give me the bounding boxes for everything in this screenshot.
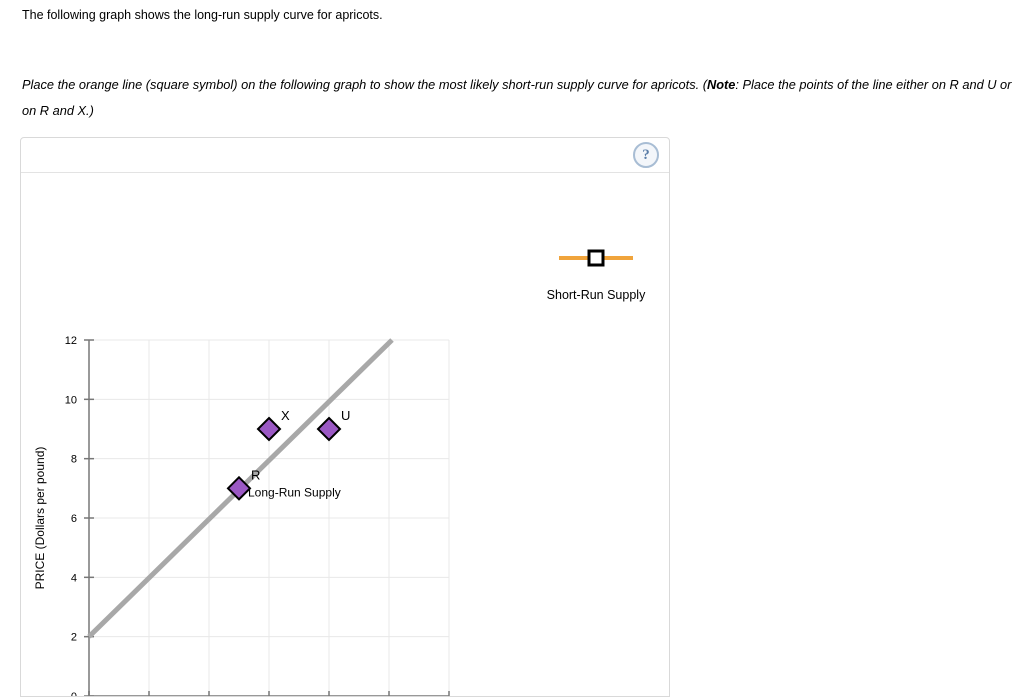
y-axis-tick-label: 4 — [71, 572, 77, 584]
prompt-intro-text: The following graph shows the long-run s… — [22, 7, 383, 24]
data-point-label-r: R — [251, 467, 260, 482]
data-point-marker-u[interactable] — [318, 418, 340, 440]
y-axis-tick-label: 2 — [71, 632, 77, 644]
y-axis-title: PRICE (Dollars per pound) — [33, 447, 47, 590]
legend-square-marker[interactable] — [589, 251, 603, 265]
long-run-supply-label: Long-Run Supply — [248, 486, 341, 500]
legend-swatch[interactable] — [521, 248, 671, 268]
instruction-note-bold: Note — [707, 77, 735, 92]
data-point-marker-x[interactable] — [258, 418, 280, 440]
legend-label-short-run-supply: Short-Run Supply — [521, 288, 671, 302]
data-point-label-x: X — [281, 408, 290, 423]
chart-legend: Short-Run Supply — [521, 248, 671, 302]
help-icon[interactable]: ? — [633, 142, 659, 168]
y-axis-tick-label: 12 — [65, 335, 77, 347]
data-point-label-u: U — [341, 408, 350, 423]
y-axis-tick-label: 10 — [65, 394, 77, 406]
y-axis-tick-label: 0 — [71, 691, 77, 696]
panel-header: ? — [21, 138, 669, 173]
y-axis-tick-label: 6 — [71, 513, 77, 525]
prompt-instruction-text: Place the orange line (square symbol) on… — [22, 72, 1014, 124]
instruction-part-1: Place the orange line (square symbol) on… — [22, 77, 707, 92]
graph-panel: ? 024681012024681012QUANTITY (Thousands … — [20, 137, 670, 697]
y-axis-tick-label: 8 — [71, 454, 77, 466]
